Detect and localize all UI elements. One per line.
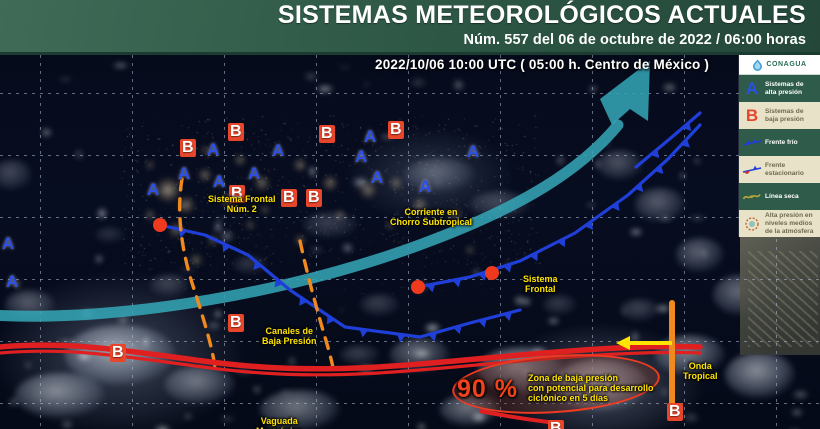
high-pressure-marker: A xyxy=(467,143,479,160)
page-header: SISTEMAS METEOROLÓGICOS ACTUALES Núm. 55… xyxy=(0,0,820,55)
high-pressure-marker: A xyxy=(207,141,219,158)
cold-front-icon xyxy=(742,136,762,150)
page-title: SISTEMAS METEOROLÓGICOS ACTUALES xyxy=(278,1,806,30)
cyclone-probability-badge: 90 % xyxy=(457,375,518,404)
satellite-map: BBBBBBBBBBBAAAAAAAAAAAAA 2022/10/06 10:0… xyxy=(0,55,820,429)
page-subtitle: Núm. 557 del 06 de octubre de 2022 / 06:… xyxy=(464,32,806,48)
high-pressure-marker: A xyxy=(6,273,18,290)
high-pressure-marker: A xyxy=(355,148,367,165)
high-pressure-marker: A xyxy=(178,165,190,182)
map-annotation-sistema-frontal-2: Sistema FrontalNúm. 2 xyxy=(208,194,276,214)
low-pressure-marker: B xyxy=(180,139,196,157)
map-annotation-corriente-chorro: Corriente enChorro Subtropical xyxy=(390,207,472,227)
high-pressure-marker: A xyxy=(419,178,431,195)
legend-item-5: Alta presión enniveles mediosde la atmós… xyxy=(739,210,820,237)
high-pressure-marker: A xyxy=(213,173,225,190)
low-pressure-marker: B xyxy=(319,125,335,143)
letter-a-icon: A xyxy=(742,80,762,97)
conagua-logo-text: CONAGUA xyxy=(766,61,806,68)
map-annotation-vaguada-monzonica: VaguadaMonzónica xyxy=(256,416,303,429)
low-pressure-marker: B xyxy=(281,189,297,207)
letter-b-icon: B xyxy=(742,107,762,124)
legend-item-label: Frente frío xyxy=(765,139,798,147)
high-pressure-marker: A xyxy=(147,181,159,198)
map-annotation-sistema-frontal: SistemaFrontal xyxy=(523,274,558,294)
map-annotation-canales-baja-presion: Canales deBaja Presión xyxy=(262,326,317,346)
high-pressure-mid-icon xyxy=(742,217,762,231)
legend-item-0: ASistemas dealta presión xyxy=(739,75,820,102)
high-pressure-marker: A xyxy=(272,142,284,159)
legend-item-2: Frente frío xyxy=(739,129,820,156)
low-pressure-marker: B xyxy=(548,420,564,429)
low-pressure-marker: B xyxy=(388,121,404,139)
low-pressure-marker: B xyxy=(110,344,126,362)
low-pressure-marker: B xyxy=(667,403,683,421)
low-pressure-marker: B xyxy=(228,123,244,141)
legend-item-3: Frenteestacionario xyxy=(739,156,820,183)
low-pressure-marker: B xyxy=(228,314,244,332)
legend-item-1: BSistemas debaja presión xyxy=(739,102,820,129)
high-pressure-marker: A xyxy=(364,128,376,145)
legend-panel: CONAGUA ASistemas dealta presiónBSistema… xyxy=(738,55,820,237)
legend-item-label: Línea seca xyxy=(765,193,799,201)
stationary-front-icon xyxy=(742,163,762,177)
legend-item-label: Frenteestacionario xyxy=(765,162,804,178)
map-annotation-onda-tropical: OndaTropical xyxy=(683,361,718,381)
low-pressure-zone-label: Zona de baja presióncon potencial para d… xyxy=(528,373,654,403)
legend-item-4: Línea seca xyxy=(739,183,820,210)
conagua-logo: CONAGUA xyxy=(739,55,820,75)
high-pressure-marker: A xyxy=(2,235,14,252)
legend-item-label: Sistemas dealta presión xyxy=(765,81,803,97)
high-pressure-marker: A xyxy=(371,169,383,186)
legend-item-label: Alta presión enniveles mediosde la atmós… xyxy=(765,212,813,235)
weather-map-screenshot: SISTEMAS METEOROLÓGICOS ACTUALES Núm. 55… xyxy=(0,0,820,429)
legend-item-label: Sistemas debaja presión xyxy=(765,108,804,124)
water-drop-icon xyxy=(752,59,763,71)
dry-line-icon xyxy=(742,190,762,204)
low-pressure-marker: B xyxy=(306,189,322,207)
map-timestamp: 2022/10/06 10:00 UTC ( 05:00 h. Centro d… xyxy=(375,57,709,72)
high-pressure-marker: A xyxy=(248,165,260,182)
